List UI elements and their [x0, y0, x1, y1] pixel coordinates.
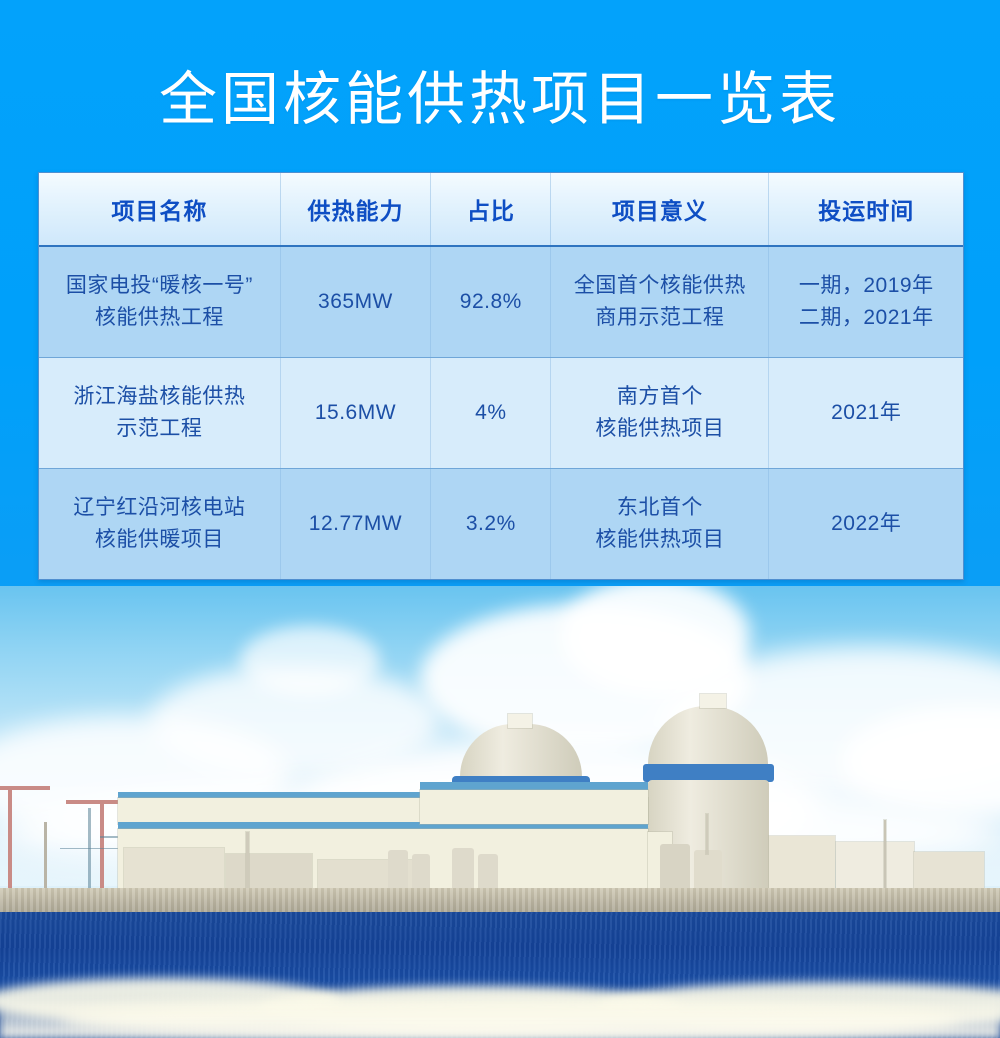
table-row: 国家电投“暖核一号” 核能供热工程 365MW 92.8% 全国首个核能供热 商…: [39, 246, 963, 358]
cell-commission-time: 一期，2019年 二期，2021年: [769, 246, 963, 358]
cell-line: 二期，2021年: [775, 302, 957, 334]
table-header: 项目名称 供热能力 占比 项目意义 投运时间: [39, 173, 963, 246]
vent-stack: [706, 814, 708, 854]
cell-share: 3.2%: [431, 469, 551, 580]
dome-stack-left: [508, 714, 532, 728]
column-header-heat-capacity: 供热能力: [280, 173, 431, 246]
construction-crane: [8, 786, 12, 891]
column-header-commission: 投运时间: [769, 173, 963, 246]
cell-significance: 东北首个 核能供热项目: [551, 469, 769, 580]
table-header-row: 项目名称 供热能力 占比 项目意义 投运时间: [39, 173, 963, 246]
construction-crane: [44, 822, 47, 892]
transmission-pylon: [88, 808, 91, 892]
shoreline-texture: [0, 888, 1000, 914]
cell-line: 全国首个核能供热: [557, 270, 762, 302]
projects-table-container: 项目名称 供热能力 占比 项目意义 投运时间 国家电投“暖核一号” 核能供热工程…: [38, 172, 964, 580]
secondary-building: [420, 790, 648, 824]
construction-crane-arm: [0, 786, 50, 790]
low-building-left-2: [226, 854, 312, 892]
column-header-share: 占比: [431, 173, 551, 246]
cell-commission-time: 2021年: [769, 358, 963, 469]
cell-line: 3.2%: [437, 508, 544, 540]
cell-line: 92.8%: [437, 286, 544, 318]
cell-line: 365MW: [287, 286, 425, 318]
cell-line: 一期，2019年: [775, 270, 957, 302]
cell-line: 南方首个: [557, 381, 762, 413]
cell-line: 核能供热项目: [557, 413, 762, 445]
table-row: 浙江海盐核能供热 示范工程 15.6MW 4% 南方首个 核能供热项目 2021: [39, 358, 963, 469]
column-header-project-name: 项目名称: [39, 173, 280, 246]
auxiliary-building-right: [769, 836, 835, 892]
cell-line: 12.77MW: [287, 508, 425, 540]
auxiliary-building-edge: [914, 852, 984, 892]
table-row: 辽宁红沿河核电站 核能供暖项目 12.77MW 3.2% 东北首个 核能供热项目: [39, 469, 963, 580]
storage-tank: [694, 850, 722, 892]
column-header-significance: 项目意义: [551, 173, 769, 246]
poster-page: 全国核能供热项目一览表 项目名称 供热能力 占比 项目意义 投运时间 国家电投“…: [0, 0, 1000, 1038]
cell-line: 4%: [437, 397, 544, 429]
cell-line: 核能供热项目: [557, 524, 762, 556]
auxiliary-building-far-right: [836, 842, 914, 892]
construction-crane: [100, 800, 104, 892]
cell-line: 2021年: [775, 397, 957, 429]
cell-line: 示范工程: [45, 413, 274, 445]
cell-significance: 南方首个 核能供热项目: [551, 358, 769, 469]
cell-line: 核能供热工程: [45, 302, 274, 334]
cell-line: 辽宁红沿河核电站: [45, 492, 274, 524]
cell-line: 商用示范工程: [557, 302, 762, 334]
cell-line: 15.6MW: [287, 397, 425, 429]
antenna-mast: [884, 820, 886, 892]
cell-project-name: 国家电投“暖核一号” 核能供热工程: [39, 246, 280, 358]
storage-tank: [388, 850, 408, 892]
storage-tank: [478, 854, 498, 892]
cell-line: 浙江海盐核能供热: [45, 381, 274, 413]
cell-share: 4%: [431, 358, 551, 469]
cell-line: 东北首个: [557, 492, 762, 524]
page-title: 全国核能供热项目一览表: [0, 60, 1000, 140]
cell-commission-time: 2022年: [769, 469, 963, 580]
nuclear-plant-photo: [0, 586, 1000, 1038]
low-building-left: [124, 848, 224, 892]
cell-line: 核能供暖项目: [45, 524, 274, 556]
cell-heat-capacity: 365MW: [280, 246, 431, 358]
cell-project-name: 浙江海盐核能供热 示范工程: [39, 358, 280, 469]
vent-stack: [246, 832, 249, 892]
cell-share: 92.8%: [431, 246, 551, 358]
projects-table: 项目名称 供热能力 占比 项目意义 投运时间 国家电投“暖核一号” 核能供热工程…: [39, 173, 963, 579]
dome-stack-right: [700, 694, 726, 708]
storage-tank: [452, 848, 474, 892]
cell-heat-capacity: 12.77MW: [280, 469, 431, 580]
cell-line: 2022年: [775, 508, 957, 540]
surf-foam-band: [0, 1002, 1000, 1038]
table-body: 国家电投“暖核一号” 核能供热工程 365MW 92.8% 全国首个核能供热 商…: [39, 246, 963, 579]
cell-significance: 全国首个核能供热 商用示范工程: [551, 246, 769, 358]
storage-tank: [412, 854, 430, 892]
cell-line: 国家电投“暖核一号”: [45, 270, 274, 302]
cell-heat-capacity: 15.6MW: [280, 358, 431, 469]
storage-tank: [660, 844, 690, 892]
cell-project-name: 辽宁红沿河核电站 核能供暖项目: [39, 469, 280, 580]
